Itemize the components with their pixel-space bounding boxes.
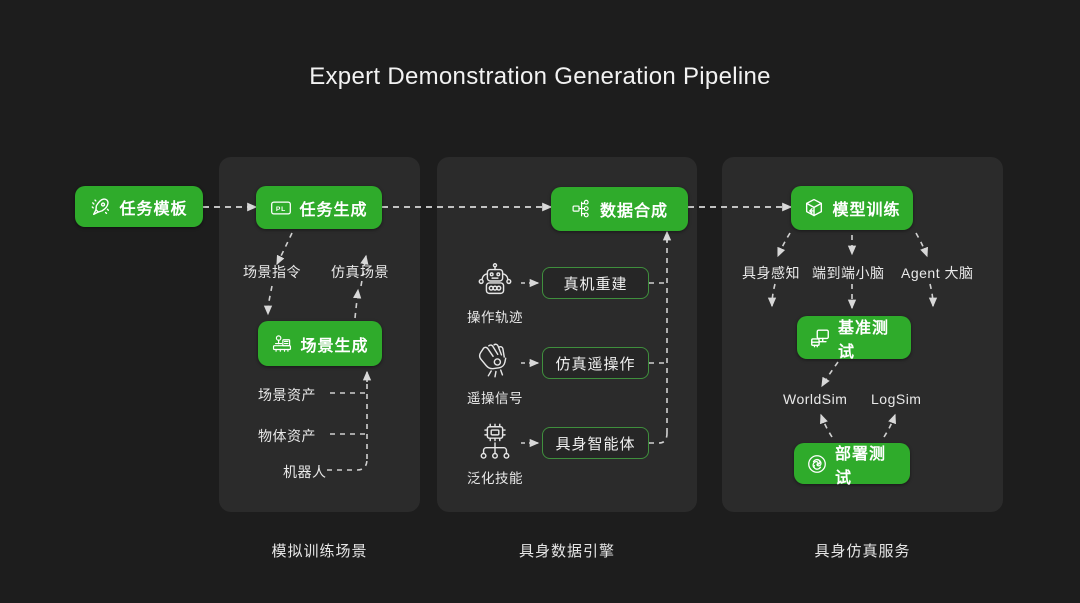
node-label: 真机重建	[563, 273, 627, 294]
node-label: 具身智能体	[555, 433, 635, 454]
node-label: 部署测试	[835, 440, 898, 488]
data-merge-icon	[571, 198, 593, 220]
edge-label-worldsim: WorldSim	[783, 391, 847, 407]
node-sim-teleoperation[interactable]: 仿真遥操作	[542, 347, 649, 379]
panel-caption-2: 具身数据引擎	[437, 540, 697, 561]
edge-label-agent-brain: Agent 大脑	[901, 263, 973, 283]
node-label: 任务模板	[119, 195, 187, 219]
page-title: Expert Demonstration Generation Pipeline	[0, 63, 1080, 91]
edge-label-logsim: LogSim	[871, 391, 921, 407]
network-node-icon	[472, 422, 518, 462]
monitor-icon	[809, 327, 831, 349]
diagram-canvas: Expert Demonstration Generation Pipeline…	[0, 0, 1080, 603]
svg-text:PL: PL	[276, 205, 286, 212]
swirl-icon	[806, 453, 828, 475]
node-data-synthesis[interactable]: 数据合成	[551, 187, 688, 231]
robot-icon	[472, 261, 518, 301]
glove-icon	[472, 342, 518, 382]
pl-badge-icon: PL	[270, 197, 292, 219]
node-model-training[interactable]: 模型训练	[791, 186, 913, 230]
edge-label-end-to-end-cerebellum: 端到端小脑	[812, 263, 885, 283]
edge-label-scene-instruction: 场景指令	[243, 262, 301, 282]
node-scene-generation[interactable]: 场景生成	[258, 321, 382, 366]
node-label: 基准测试	[838, 314, 899, 362]
cube-train-icon	[803, 197, 825, 219]
panel-caption-1: 模拟训练场景	[219, 540, 420, 561]
source-label-teleop-signal: 遥操信号	[467, 387, 523, 407]
node-deploy-test[interactable]: 部署测试	[794, 443, 910, 484]
node-label: 任务生成	[299, 196, 367, 220]
node-label: 仿真遥操作	[555, 353, 635, 374]
edge-label-object-assets: 物体资产	[258, 426, 316, 446]
node-real-machine-reconstruction[interactable]: 真机重建	[542, 267, 649, 299]
rocket-icon	[90, 196, 112, 218]
node-label: 场景生成	[300, 332, 368, 356]
source-label-generalization-skill: 泛化技能	[467, 467, 523, 487]
panel-caption-3: 具身仿真服务	[722, 540, 1003, 561]
node-benchmark-test[interactable]: 基准测试	[797, 316, 911, 359]
edge-label-scene-assets: 场景资产	[258, 385, 316, 405]
node-label: 模型训练	[832, 196, 900, 220]
node-embodied-agent[interactable]: 具身智能体	[542, 427, 649, 459]
edge-label-sim-scene: 仿真场景	[331, 262, 389, 282]
scene-robot-icon	[271, 333, 293, 355]
edge-label-embodied-perception: 具身感知	[742, 263, 800, 283]
source-label-operation-trajectory: 操作轨迹	[467, 306, 523, 326]
node-task-generation[interactable]: PL 任务生成	[256, 186, 382, 229]
edge-label-robot: 机器人	[283, 462, 327, 482]
node-label: 数据合成	[600, 197, 668, 221]
node-task-template[interactable]: 任务模板	[75, 186, 203, 227]
